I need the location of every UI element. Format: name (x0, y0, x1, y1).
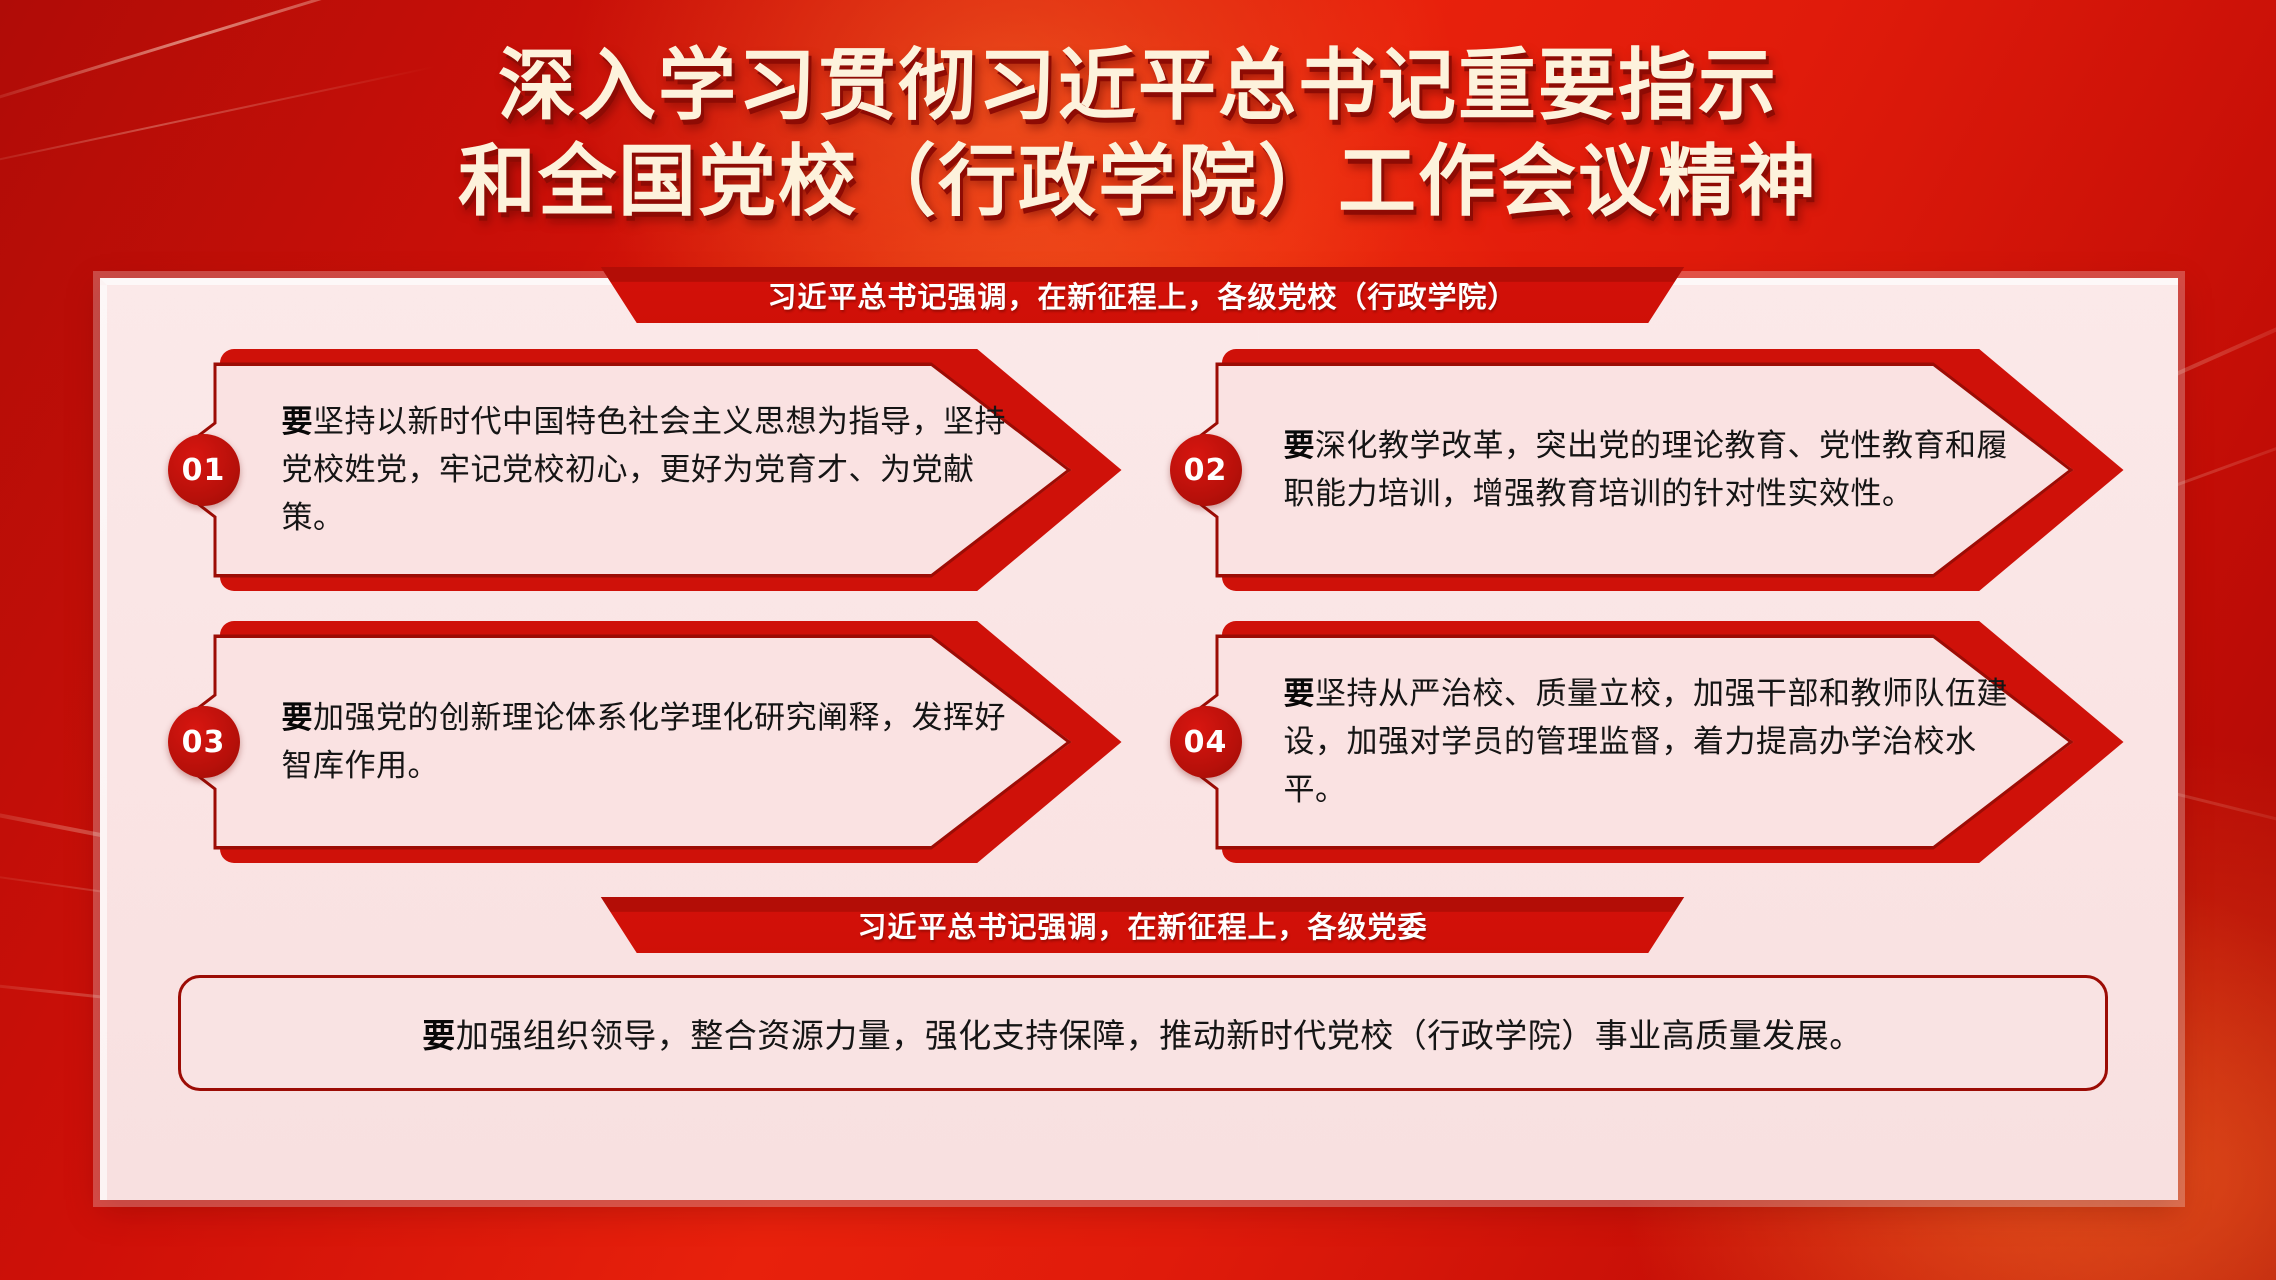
summary-text: 要加强组织领导，整合资源力量，强化支持保障，推动新时代党校（行政学院）事业高质量… (422, 1009, 1863, 1057)
summary-lead: 要 (422, 1016, 456, 1055)
title-line-1: 深入学习贯彻习近平总书记重要指示 (0, 38, 2276, 134)
summary-body-text: 加强组织领导，整合资源力量，强化支持保障，推动新时代党校（行政学院）事业高质量发… (456, 1016, 1863, 1055)
card-number: 01 (182, 453, 226, 488)
card-body-text: 深化教学改革，突出党的理论教育、党性教育和履职能力培训，增强教育培训的针对性实效… (1284, 428, 2009, 512)
card-number-badge: 03 (168, 706, 240, 778)
card-number: 02 (1184, 453, 1228, 488)
point-card-04: 04 要坚持从严治校、质量立校，加强干部和教师队伍建设，加强对学员的管理监督，着… (1164, 621, 2124, 863)
card-text: 要深化教学改革，突出党的理论教育、党性教育和履职能力培训，增强教育培训的针对性实… (1284, 422, 2024, 518)
card-body-text: 坚持以新时代中国特色社会主义思想为指导，坚持党校姓党，牢记党校初心，更好为党育才… (282, 404, 1007, 536)
card-lead: 要 (1284, 428, 1316, 464)
card-body-text: 加强党的创新理论体系化学理化研究阐释，发挥好智库作用。 (282, 700, 1007, 784)
poster-canvas: 深入学习贯彻习近平总书记重要指示 和全国党校（行政学院）工作会议精神 习近平总书… (0, 0, 2276, 1280)
content-panel: 习近平总书记强调，在新征程上，各级党校（行政学院） 01 要坚持以新时代中国特色… (100, 278, 2178, 1200)
card-lead: 要 (282, 404, 314, 440)
card-text: 要坚持以新时代中国特色社会主义思想为指导，坚持党校姓党，牢记党校初心，更好为党育… (282, 398, 1022, 542)
section-banner-top-label: 习近平总书记强调，在新征程上，各级党校（行政学院） (767, 274, 1517, 316)
card-number: 03 (182, 725, 226, 760)
card-number-badge: 01 (168, 434, 240, 506)
section-banner-top: 习近平总书记强调，在新征程上，各级党校（行政学院） (563, 267, 1723, 323)
card-text: 要加强党的创新理论体系化学理化研究阐释，发挥好智库作用。 (282, 694, 1022, 790)
card-text: 要坚持从严治校、质量立校，加强干部和教师队伍建设，加强对学员的管理监督，着力提高… (1284, 670, 2024, 814)
card-lead: 要 (1284, 676, 1316, 712)
section-banner-bottom-label: 习近平总书记强调，在新征程上，各级党委 (857, 904, 1427, 946)
card-number: 04 (1184, 725, 1228, 760)
section-banner-bottom: 习近平总书记强调，在新征程上，各级党委 (563, 897, 1723, 953)
point-card-01: 01 要坚持以新时代中国特色社会主义思想为指导，坚持党校姓党，牢记党校初心，更好… (162, 349, 1122, 591)
card-number-badge: 02 (1170, 434, 1242, 506)
point-card-02: 02 要深化教学改革，突出党的理论教育、党性教育和履职能力培训，增强教育培训的针… (1164, 349, 2124, 591)
card-body-text: 坚持从严治校、质量立校，加强干部和教师队伍建设，加强对学员的管理监督，着力提高办… (1284, 676, 2009, 808)
card-number-badge: 04 (1170, 706, 1242, 778)
card-lead: 要 (282, 700, 314, 736)
title-line-2: 和全国党校（行政学院）工作会议精神 (0, 134, 2276, 230)
points-grid: 01 要坚持以新时代中国特色社会主义思想为指导，坚持党校姓党，牢记党校初心，更好… (107, 349, 2178, 863)
poster-title: 深入学习贯彻习近平总书记重要指示 和全国党校（行政学院）工作会议精神 (0, 38, 2276, 230)
point-card-03: 03 要加强党的创新理论体系化学理化研究阐释，发挥好智库作用。 (162, 621, 1122, 863)
summary-box: 要加强组织领导，整合资源力量，强化支持保障，推动新时代党校（行政学院）事业高质量… (178, 975, 2108, 1091)
